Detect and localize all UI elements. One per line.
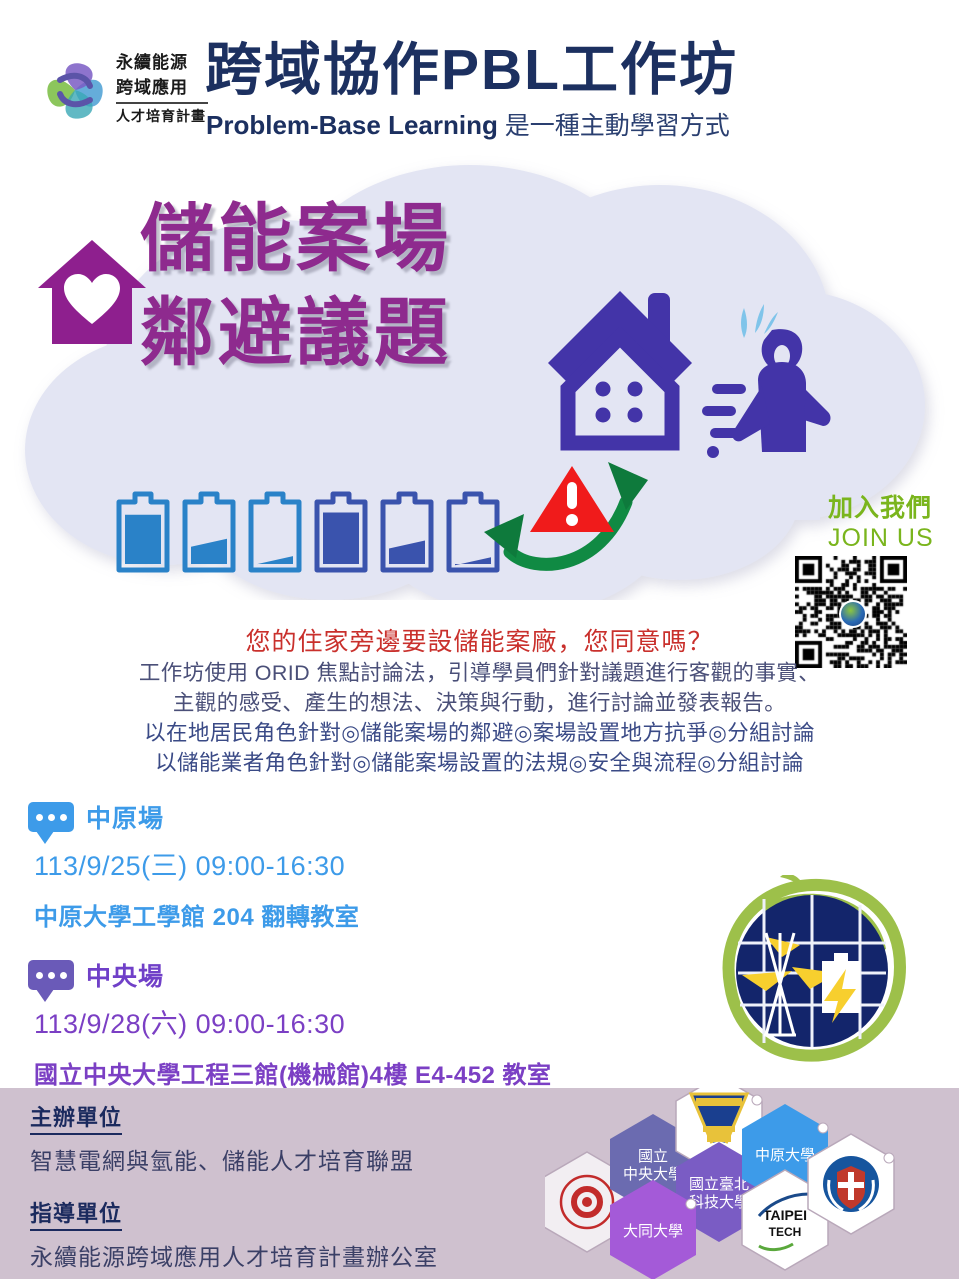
program-logo-divider bbox=[116, 102, 208, 104]
speech-bubble-icon bbox=[28, 802, 74, 832]
organizer-heading: 主辦單位 bbox=[30, 1100, 122, 1135]
worried-person-icon bbox=[700, 300, 840, 475]
poster-title: 跨域協作PBL工作坊 bbox=[205, 38, 738, 102]
description-line-3: 以在地居民角色針對◎儲能案場的鄰避◎案場設置地方抗爭◎分組討論 bbox=[0, 718, 959, 748]
session-venue: 國立中央大學工程三館(機械館)4樓 E4-452 教室 bbox=[34, 1055, 728, 1090]
session-datetime: 113/9/25(三) 09:00-16:30 bbox=[34, 844, 728, 883]
session-name: 中央場 bbox=[86, 957, 164, 993]
hero-title: 儲能案場 鄰避議題 bbox=[140, 192, 452, 380]
hero-title-line-1: 儲能案場 bbox=[140, 192, 452, 286]
advisor-value: 永續能源跨域應用人才培育計畫辦公室 bbox=[30, 1238, 550, 1272]
partner-logos: 國立中央大學國立臺北科技大學中原大學大同大學TAIPEITECH bbox=[545, 1088, 959, 1279]
description-line-1: 工作坊使用 ORID 焦點討論法，引導學員們針對議題進行客觀的事實、 bbox=[0, 658, 959, 688]
partner-label: 國立 bbox=[638, 1148, 668, 1165]
advisor-heading-wrap: 指導單位 bbox=[30, 1196, 550, 1231]
program-logo: 永續能源 跨域應用 人才培育計畫 bbox=[38, 48, 210, 136]
house-heart-icon bbox=[36, 236, 148, 348]
infinity-knot-icon bbox=[38, 52, 112, 128]
program-logo-subtitle: 人才培育計畫 bbox=[116, 106, 212, 126]
partner-label: 國立臺北 bbox=[689, 1176, 749, 1193]
speech-bubble-dots-icon bbox=[28, 960, 74, 990]
hero-title-line-2: 鄰避議題 bbox=[140, 286, 452, 380]
advisor-heading: 指導單位 bbox=[30, 1196, 122, 1231]
session-header: 中央場 bbox=[28, 958, 728, 992]
speech-bubble-dots-icon bbox=[28, 802, 74, 832]
poster-header: 永續能源 跨域應用 人才培育計畫 跨域協作PBL工作坊 Problem-Base… bbox=[0, 0, 959, 152]
partner-label: 科技大學 bbox=[689, 1193, 749, 1211]
smart-grid-logo-icon bbox=[700, 875, 915, 1075]
organizer-value: 智慧電網與氫能、儲能人才培育聯盟 bbox=[30, 1142, 550, 1176]
session-list: 中原場 113/9/25(三) 09:00-16:30 中原大學工學館 204 … bbox=[28, 800, 728, 1116]
headline-question: 您的住家旁邊要設儲能案廠，您同意嗎？ bbox=[0, 622, 959, 658]
description-line-2: 主觀的感受、產生的想法、決策與行動，進行討論並發表報告。 bbox=[0, 688, 959, 718]
session-header: 中原場 bbox=[28, 800, 728, 834]
join-us-zh: 加入我們 bbox=[828, 493, 934, 523]
poster-subtitle-en: Problem-Base Learning bbox=[206, 110, 498, 140]
svg-text:TECH: TECH bbox=[769, 1225, 802, 1239]
organizer-block: 主辦單位 智慧電網與氫能、儲能人才培育聯盟 指導單位 永續能源跨域應用人才培育計… bbox=[30, 1100, 550, 1272]
poster-root: 永續能源 跨域應用 人才培育計畫 跨域協作PBL工作坊 Problem-Base… bbox=[0, 0, 959, 1279]
poster-subtitle: Problem-Base Learning 是一種主動學習方式 bbox=[206, 106, 730, 142]
session-datetime: 113/9/28(六) 09:00-16:30 bbox=[34, 1002, 728, 1041]
hex-connector-node bbox=[884, 1153, 894, 1163]
hex-connector-node bbox=[752, 1095, 762, 1105]
hex-connector-node bbox=[686, 1199, 696, 1209]
svg-text:TAIPEI: TAIPEI bbox=[763, 1207, 807, 1223]
join-us-en: JOIN US bbox=[828, 523, 934, 553]
session-item-zhongyuan: 中原場 113/9/25(三) 09:00-16:30 中原大學工學館 204 … bbox=[28, 800, 728, 932]
program-logo-text: 永續能源 跨域應用 人才培育計畫 bbox=[116, 50, 212, 126]
session-venue: 中原大學工學館 204 翻轉教室 bbox=[34, 897, 728, 932]
hex-connector-node bbox=[818, 1123, 828, 1133]
partner-label: 中原大學 bbox=[755, 1146, 815, 1164]
speech-bubble-icon bbox=[28, 960, 74, 990]
battery-level-icons bbox=[115, 480, 515, 580]
poster-footer: 主辦單位 智慧電網與氫能、儲能人才培育聯盟 指導單位 永續能源跨域應用人才培育計… bbox=[0, 1088, 959, 1279]
program-logo-line-1: 永續能源 bbox=[116, 50, 212, 75]
warning-triangle-icon bbox=[530, 466, 614, 532]
description-paragraphs: 工作坊使用 ORID 焦點討論法，引導學員們針對議題進行客觀的事實、 主觀的感受… bbox=[0, 658, 959, 778]
partner-label: 大同大學 bbox=[623, 1222, 683, 1240]
join-us-block: 加入我們 JOIN US bbox=[828, 493, 934, 553]
description-line-4: 以儲能業者角色針對◎儲能案場設置的法規◎安全與流程◎分組討論 bbox=[0, 748, 959, 778]
issue-arrow-group bbox=[480, 440, 665, 590]
house-icon bbox=[540, 285, 700, 460]
poster-subtitle-zh: 是一種主動學習方式 bbox=[498, 112, 730, 140]
program-logo-line-2: 跨域應用 bbox=[116, 75, 212, 100]
session-name: 中原場 bbox=[86, 799, 164, 835]
session-item-zhongyang: 中央場 113/9/28(六) 09:00-16:30 國立中央大學工程三館(機… bbox=[28, 958, 728, 1090]
organizer-heading-wrap: 主辦單位 bbox=[30, 1100, 550, 1135]
